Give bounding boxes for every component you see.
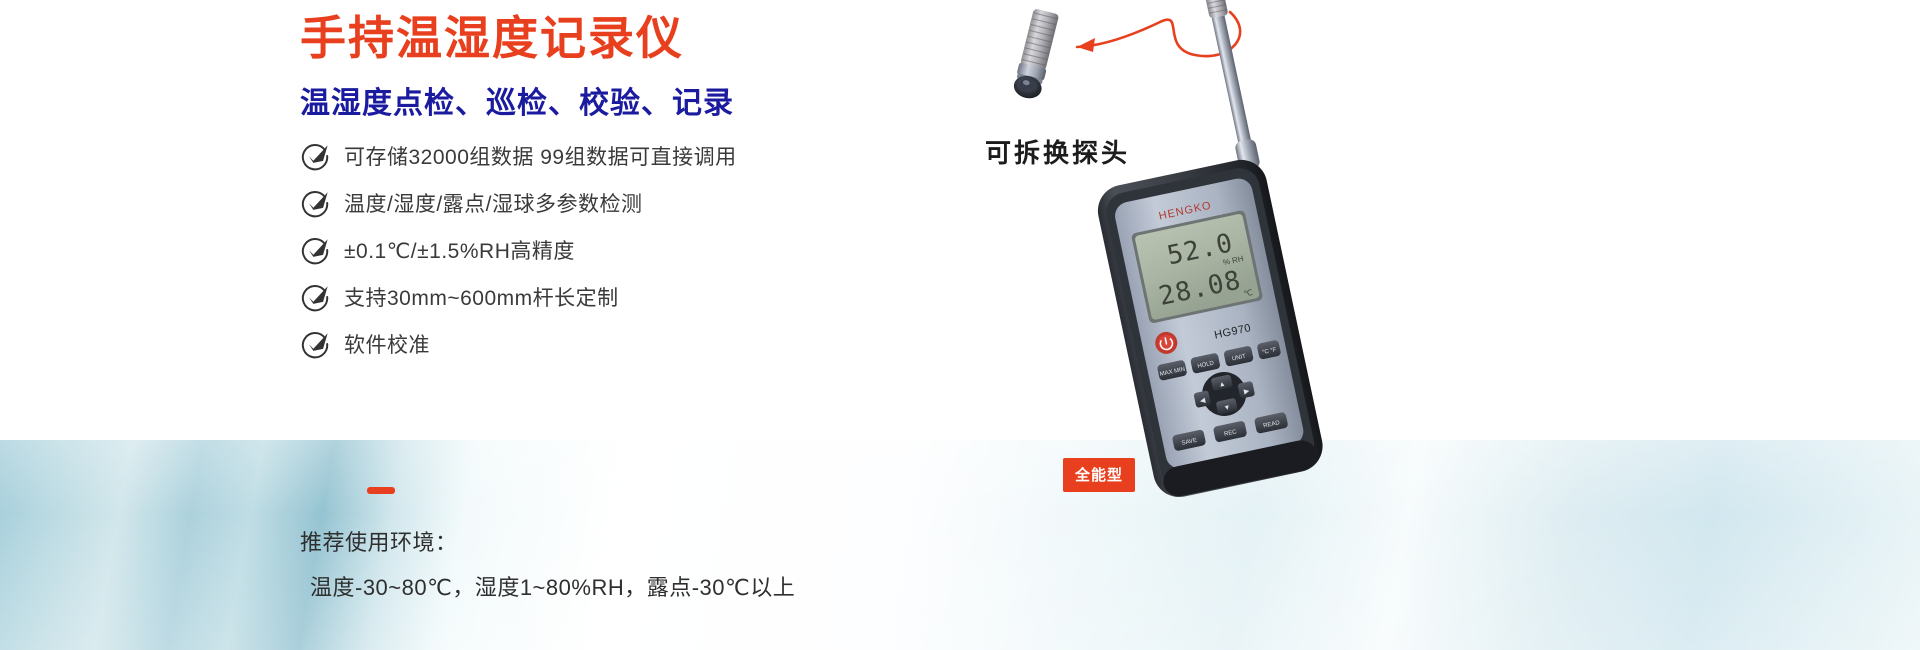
button-label: ▼ [1223, 404, 1231, 412]
status-badge: 全能型 [1063, 458, 1135, 492]
lcd-temperature-unit: ℃ [1243, 288, 1254, 299]
feature-text: ±0.1℃/±1.5%RH高精度 [344, 235, 575, 265]
check-circle-icon [300, 235, 330, 265]
list-item: 支持30mm~600mm杆长定制 [300, 273, 1000, 320]
list-item: ±0.1℃/±1.5%RH高精度 [300, 226, 1000, 273]
feature-text: 支持30mm~600mm杆长定制 [344, 282, 619, 312]
banner-background-bottom [0, 440, 1920, 650]
feature-text: 温度/湿度/露点/湿球多参数检测 [344, 188, 643, 218]
page-title: 手持温湿度记录仪 [300, 10, 684, 68]
feature-list: 可存储32000组数据 99组数据可直接调用 温度/湿度/露点/湿球多参数检测 … [300, 132, 1000, 367]
thermo-hygrometer-device-image: HENGKO 52.0 % RH 28.08 ℃ HG970 MAX MIN H… [1040, 0, 1380, 520]
feature-text: 可存储32000组数据 99组数据可直接调用 [344, 141, 737, 171]
environment-note-line2: 温度-30~80℃，湿度1~80%RH，露点-30℃以上 [300, 565, 795, 610]
list-item: 温度/湿度/露点/湿球多参数检测 [300, 179, 1000, 226]
page-subtitle: 温湿度点检、巡检、校验、记录 [300, 78, 734, 122]
environment-note: 推荐使用环境： 温度-30~80℃，湿度1~80%RH，露点-30℃以上 [300, 520, 795, 610]
check-circle-icon [300, 188, 330, 218]
check-circle-icon [300, 141, 330, 171]
list-item: 软件校准 [300, 320, 1000, 367]
check-circle-icon [300, 329, 330, 359]
check-circle-icon [300, 282, 330, 312]
environment-note-line1: 推荐使用环境： [300, 520, 795, 565]
feature-text: 软件校准 [344, 329, 430, 359]
list-item: 可存储32000组数据 99组数据可直接调用 [300, 132, 1000, 179]
red-dash-divider [367, 487, 395, 494]
product-banner: 手持温湿度记录仪 温湿度点检、巡检、校验、记录 可存储32000组数据 99组数… [0, 0, 1920, 650]
button-label: ▲ [1218, 381, 1226, 389]
